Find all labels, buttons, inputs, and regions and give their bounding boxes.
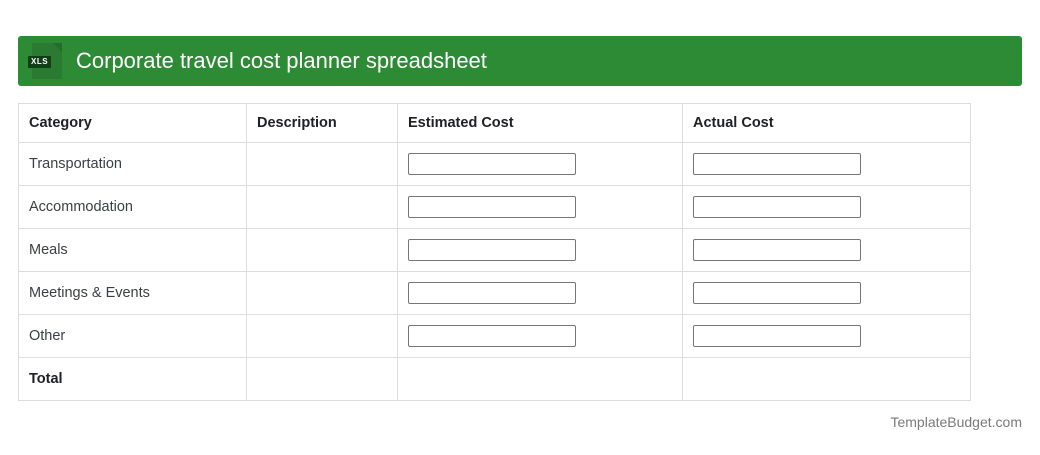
estimated-cost-input-meetings-events[interactable]	[408, 282, 576, 304]
footer-attribution: TemplateBudget.com	[890, 414, 1022, 430]
table-header-row: Category Description Estimated Cost Actu…	[19, 104, 971, 143]
row-label-transportation: Transportation	[19, 143, 247, 186]
cell-estimated-cost-transportation	[398, 143, 683, 186]
estimated-cost-input-transportation[interactable]	[408, 153, 576, 175]
cell-actual-cost-total	[683, 358, 971, 401]
cell-actual-cost-accommodation	[683, 186, 971, 229]
cell-actual-cost-transportation	[683, 143, 971, 186]
cell-actual-cost-meals	[683, 229, 971, 272]
actual-cost-input-transportation[interactable]	[693, 153, 861, 175]
table-body: Transportation Accommodation	[19, 143, 971, 401]
cell-description-total	[247, 358, 398, 401]
row-label-accommodation: Accommodation	[19, 186, 247, 229]
cell-description-accommodation[interactable]	[247, 186, 398, 229]
row-label-other: Other	[19, 315, 247, 358]
column-header-actual-cost: Actual Cost	[683, 104, 971, 143]
xls-file-icon: XLS	[32, 43, 62, 79]
document-header-banner: XLS Corporate travel cost planner spread…	[18, 36, 1022, 86]
page-title: Corporate travel cost planner spreadshee…	[76, 50, 487, 72]
actual-cost-input-accommodation[interactable]	[693, 196, 861, 218]
planner-table-wrap: Category Description Estimated Cost Actu…	[18, 103, 970, 401]
travel-cost-planner-table: Category Description Estimated Cost Actu…	[18, 103, 971, 401]
estimated-cost-input-meals[interactable]	[408, 239, 576, 261]
table-row: Accommodation	[19, 186, 971, 229]
actual-cost-input-meetings-events[interactable]	[693, 282, 861, 304]
table-total-row: Total	[19, 358, 971, 401]
table-row: Meals	[19, 229, 971, 272]
cell-estimated-cost-accommodation	[398, 186, 683, 229]
cell-estimated-cost-meals	[398, 229, 683, 272]
cell-description-other[interactable]	[247, 315, 398, 358]
cell-estimated-cost-other	[398, 315, 683, 358]
table-row: Transportation	[19, 143, 971, 186]
cell-actual-cost-meetings-events	[683, 272, 971, 315]
column-header-estimated-cost: Estimated Cost	[398, 104, 683, 143]
table-row: Meetings & Events	[19, 272, 971, 315]
actual-cost-input-other[interactable]	[693, 325, 861, 347]
cell-description-transportation[interactable]	[247, 143, 398, 186]
table-row: Other	[19, 315, 971, 358]
column-header-description: Description	[247, 104, 398, 143]
cell-estimated-cost-total	[398, 358, 683, 401]
cell-description-meetings-events[interactable]	[247, 272, 398, 315]
row-label-meals: Meals	[19, 229, 247, 272]
row-label-meetings-events: Meetings & Events	[19, 272, 247, 315]
xls-badge-label: XLS	[28, 56, 51, 68]
row-label-total: Total	[19, 358, 247, 401]
cell-description-meals[interactable]	[247, 229, 398, 272]
page-root: XLS Corporate travel cost planner spread…	[0, 0, 1040, 455]
actual-cost-input-meals[interactable]	[693, 239, 861, 261]
cell-actual-cost-other	[683, 315, 971, 358]
column-header-category: Category	[19, 104, 247, 143]
estimated-cost-input-other[interactable]	[408, 325, 576, 347]
estimated-cost-input-accommodation[interactable]	[408, 196, 576, 218]
cell-estimated-cost-meetings-events	[398, 272, 683, 315]
table-head: Category Description Estimated Cost Actu…	[19, 104, 971, 143]
file-fold-corner-icon	[53, 43, 62, 52]
